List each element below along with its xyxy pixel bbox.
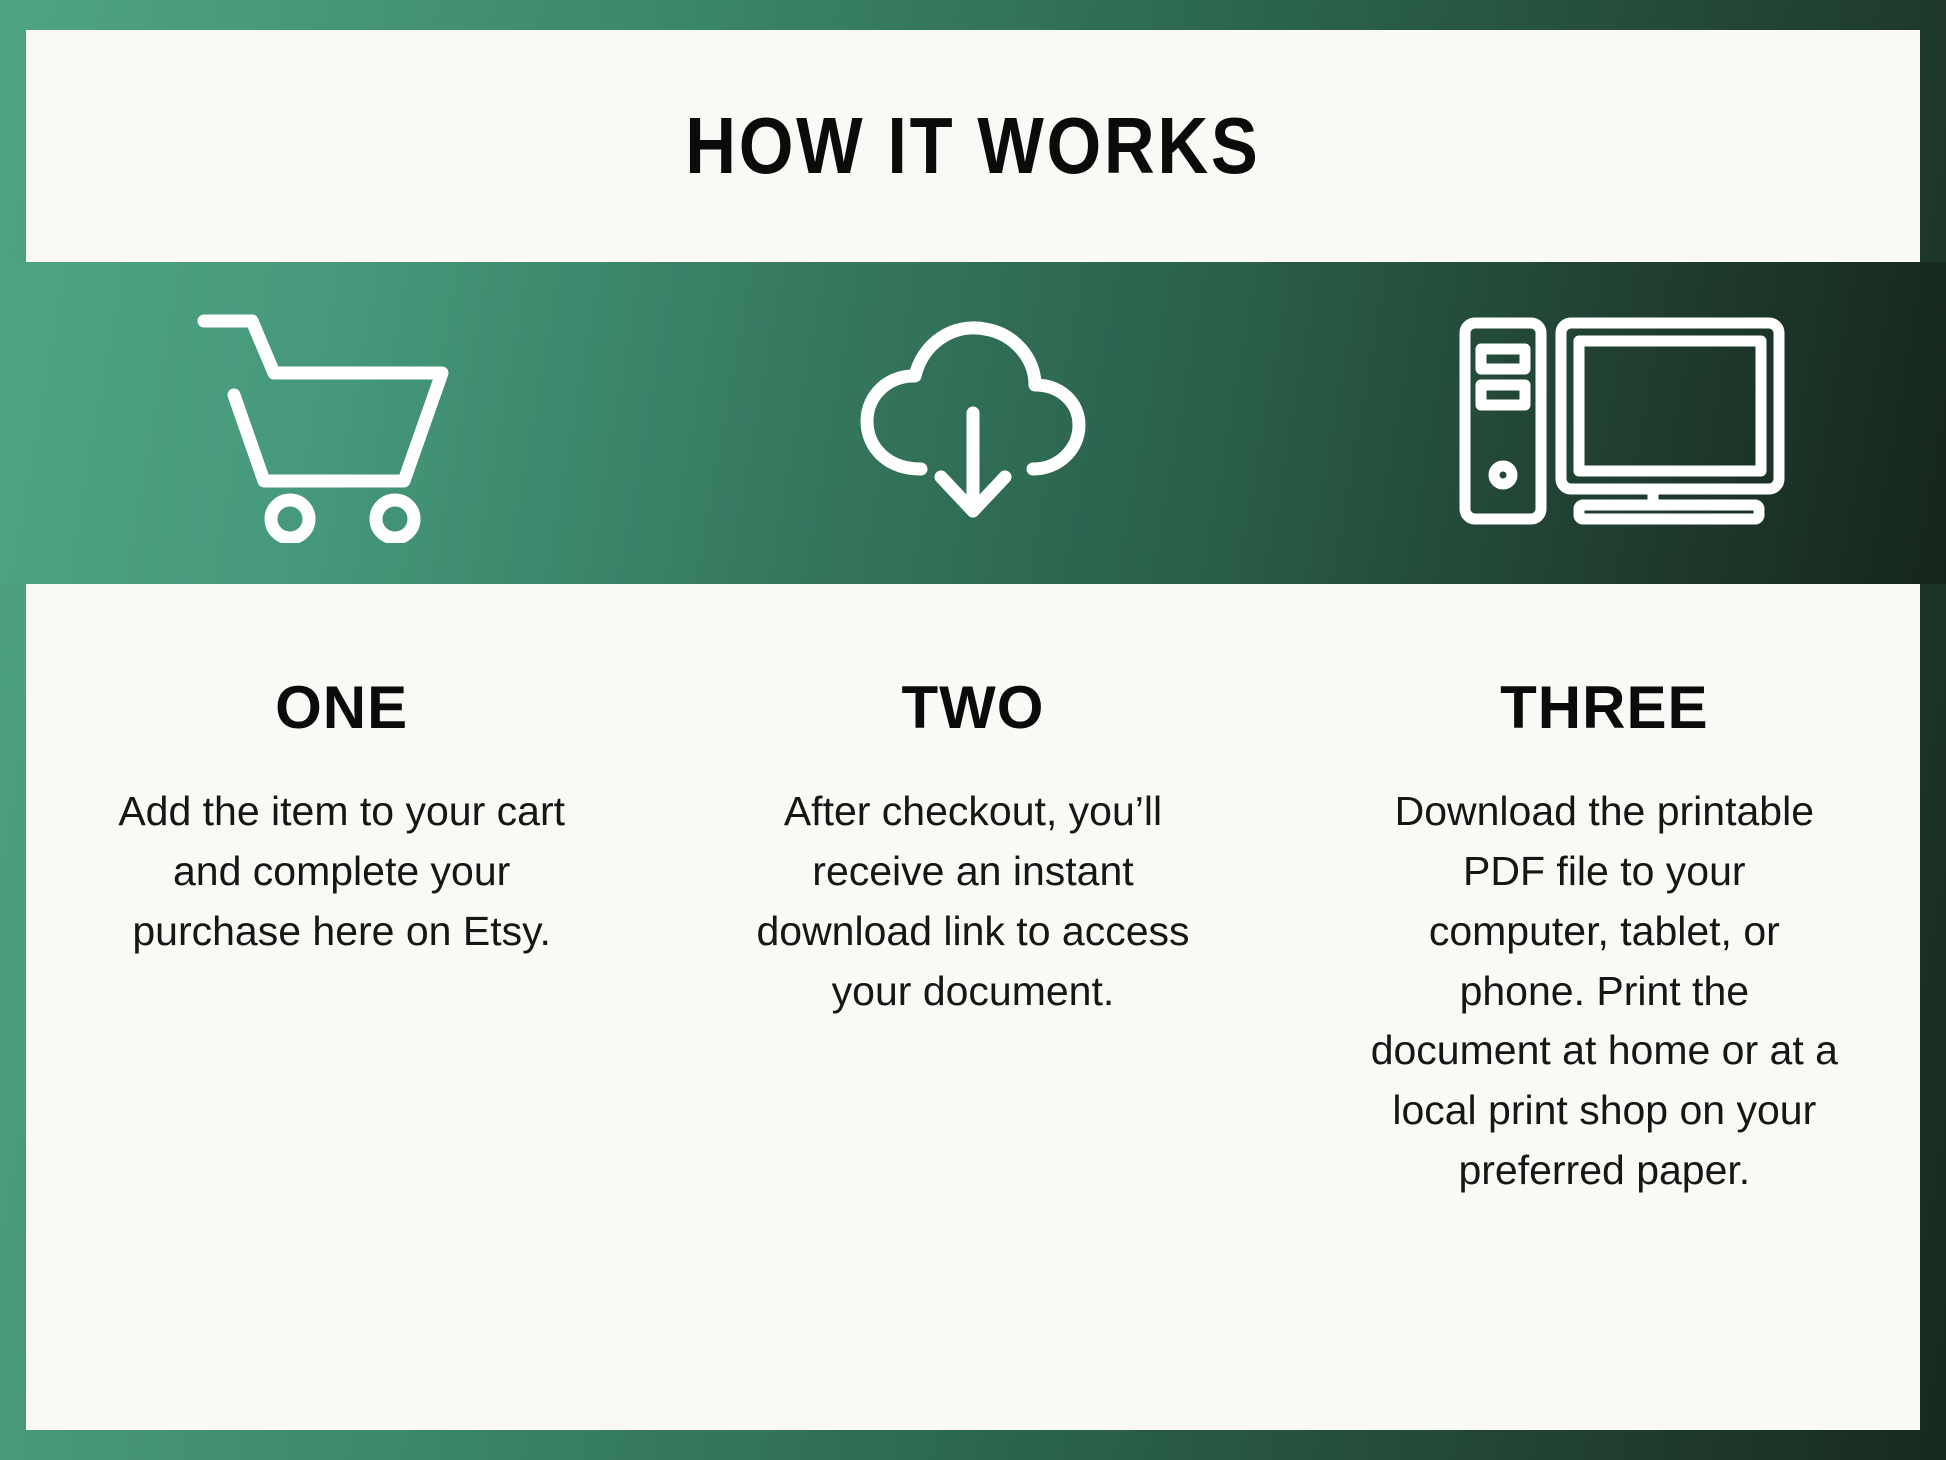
title-section: HOW IT WORKS (26, 30, 1920, 262)
step-two-heading: TWO (902, 678, 1045, 738)
step-one: ONE Add the item to your cart and comple… (26, 584, 657, 962)
desktop-computer-icon (1457, 315, 1787, 531)
step-three-body: Download the printable PDF file to your … (1369, 782, 1839, 1201)
page-title: HOW IT WORKS (685, 106, 1260, 186)
icon-cell-one (0, 262, 649, 584)
icon-cell-three (1297, 262, 1946, 584)
icon-cell-two (649, 262, 1298, 584)
step-one-body: Add the item to your cart and complete y… (107, 782, 577, 962)
step-three-heading: THREE (1500, 678, 1708, 738)
step-one-heading: ONE (275, 678, 408, 738)
step-two: TWO After checkout, you’ll receive an in… (657, 584, 1288, 1021)
poster-canvas: HOW IT WORKS ONE Add the item to your ca… (26, 30, 1920, 1430)
step-three: THREE Download the printable PDF file to… (1289, 584, 1920, 1201)
step-two-body: After checkout, you’ll receive an instan… (738, 782, 1208, 1021)
poster-frame: HOW IT WORKS ONE Add the item to your ca… (0, 0, 1946, 1460)
steps-row: ONE Add the item to your cart and comple… (26, 584, 1920, 1430)
cloud-download-icon (857, 317, 1089, 529)
icon-band (0, 262, 1946, 584)
shopping-cart-icon (194, 303, 454, 543)
